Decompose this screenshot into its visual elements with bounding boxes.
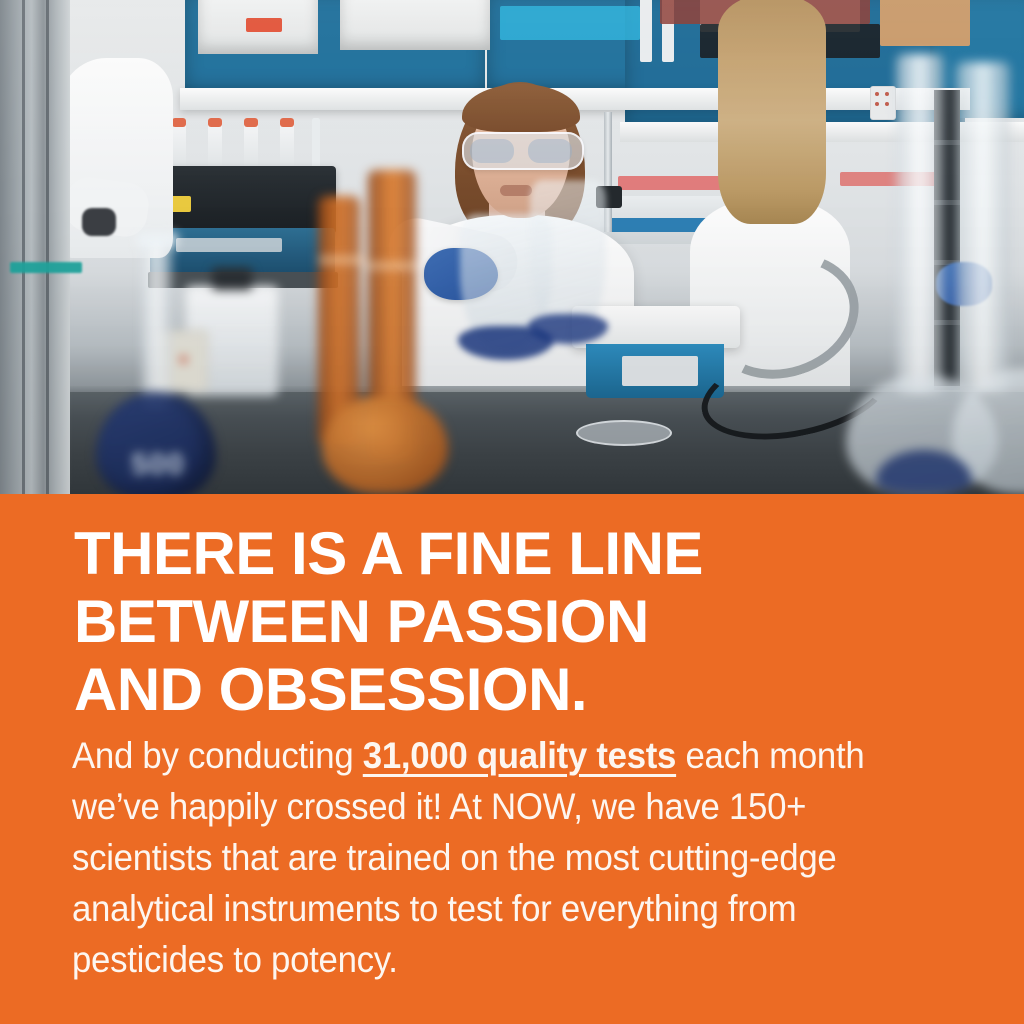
test-tube-cap xyxy=(172,118,186,127)
frame-line xyxy=(22,0,25,494)
shelf-divider-1 xyxy=(640,0,652,62)
instrument-tray-red xyxy=(618,176,726,190)
outlet-indicator xyxy=(875,102,879,106)
wall-outlet xyxy=(870,86,896,120)
outlet-indicator xyxy=(885,102,889,106)
instrument-screen xyxy=(176,238,282,252)
page-title: THERE IS A FINE LINE BETWEEN PASSION AND… xyxy=(74,520,954,724)
amber-flask-ring-2 xyxy=(368,262,416,270)
flask-volume-label: 500 xyxy=(112,448,204,482)
quality-tests-emphasis: 31,000 quality tests xyxy=(363,735,676,776)
test-tube-cap xyxy=(280,118,294,127)
body-copy-before: And by conducting xyxy=(72,735,363,776)
frame-line xyxy=(46,0,49,494)
socket-indicator xyxy=(180,356,187,363)
volumetric-flask-neck-right-2 xyxy=(956,62,1010,392)
test-tube-rack xyxy=(172,118,322,170)
petri-dish xyxy=(576,420,672,446)
volumetric-flask-neck-right-1 xyxy=(896,54,944,394)
test-tube-cap xyxy=(208,118,222,127)
goggle-lens-right xyxy=(528,139,572,163)
volumetric-flask-lip xyxy=(136,232,178,248)
test-tube-cap xyxy=(244,118,258,127)
reagent-bottle-cap xyxy=(212,268,252,290)
orange-text-panel: THERE IS A FINE LINE BETWEEN PASSION AND… xyxy=(0,494,1024,1024)
shelf-item-box xyxy=(880,0,970,46)
goggle-lens-left xyxy=(470,139,514,163)
body-copy: And by conducting 31,000 quality tests e… xyxy=(72,730,882,985)
outlet-indicator xyxy=(875,92,879,96)
shelf-item-red xyxy=(246,18,282,32)
shelf-open-left-2 xyxy=(340,0,490,50)
amber-flask-bulb xyxy=(322,396,448,494)
door-frame-column xyxy=(0,0,70,494)
scientist-left-hand xyxy=(82,208,116,236)
outlet-indicator xyxy=(885,92,889,96)
social-promo-card: 500 THERE IS A FINE LINE BETWEEN PASSION… xyxy=(0,0,1024,1024)
analytical-balance-panel xyxy=(622,356,698,386)
amber-flask-ring xyxy=(318,256,366,264)
teal-marker-band xyxy=(10,262,82,273)
scientist-center-mouth xyxy=(500,185,532,196)
shelf-item-cyan xyxy=(500,6,640,40)
lab-photo: 500 xyxy=(0,0,1024,494)
test-tube-thin xyxy=(312,118,320,170)
volumetric-flask-neck xyxy=(142,238,172,408)
safety-goggles xyxy=(462,132,584,170)
scientist-right-hair xyxy=(718,0,826,224)
